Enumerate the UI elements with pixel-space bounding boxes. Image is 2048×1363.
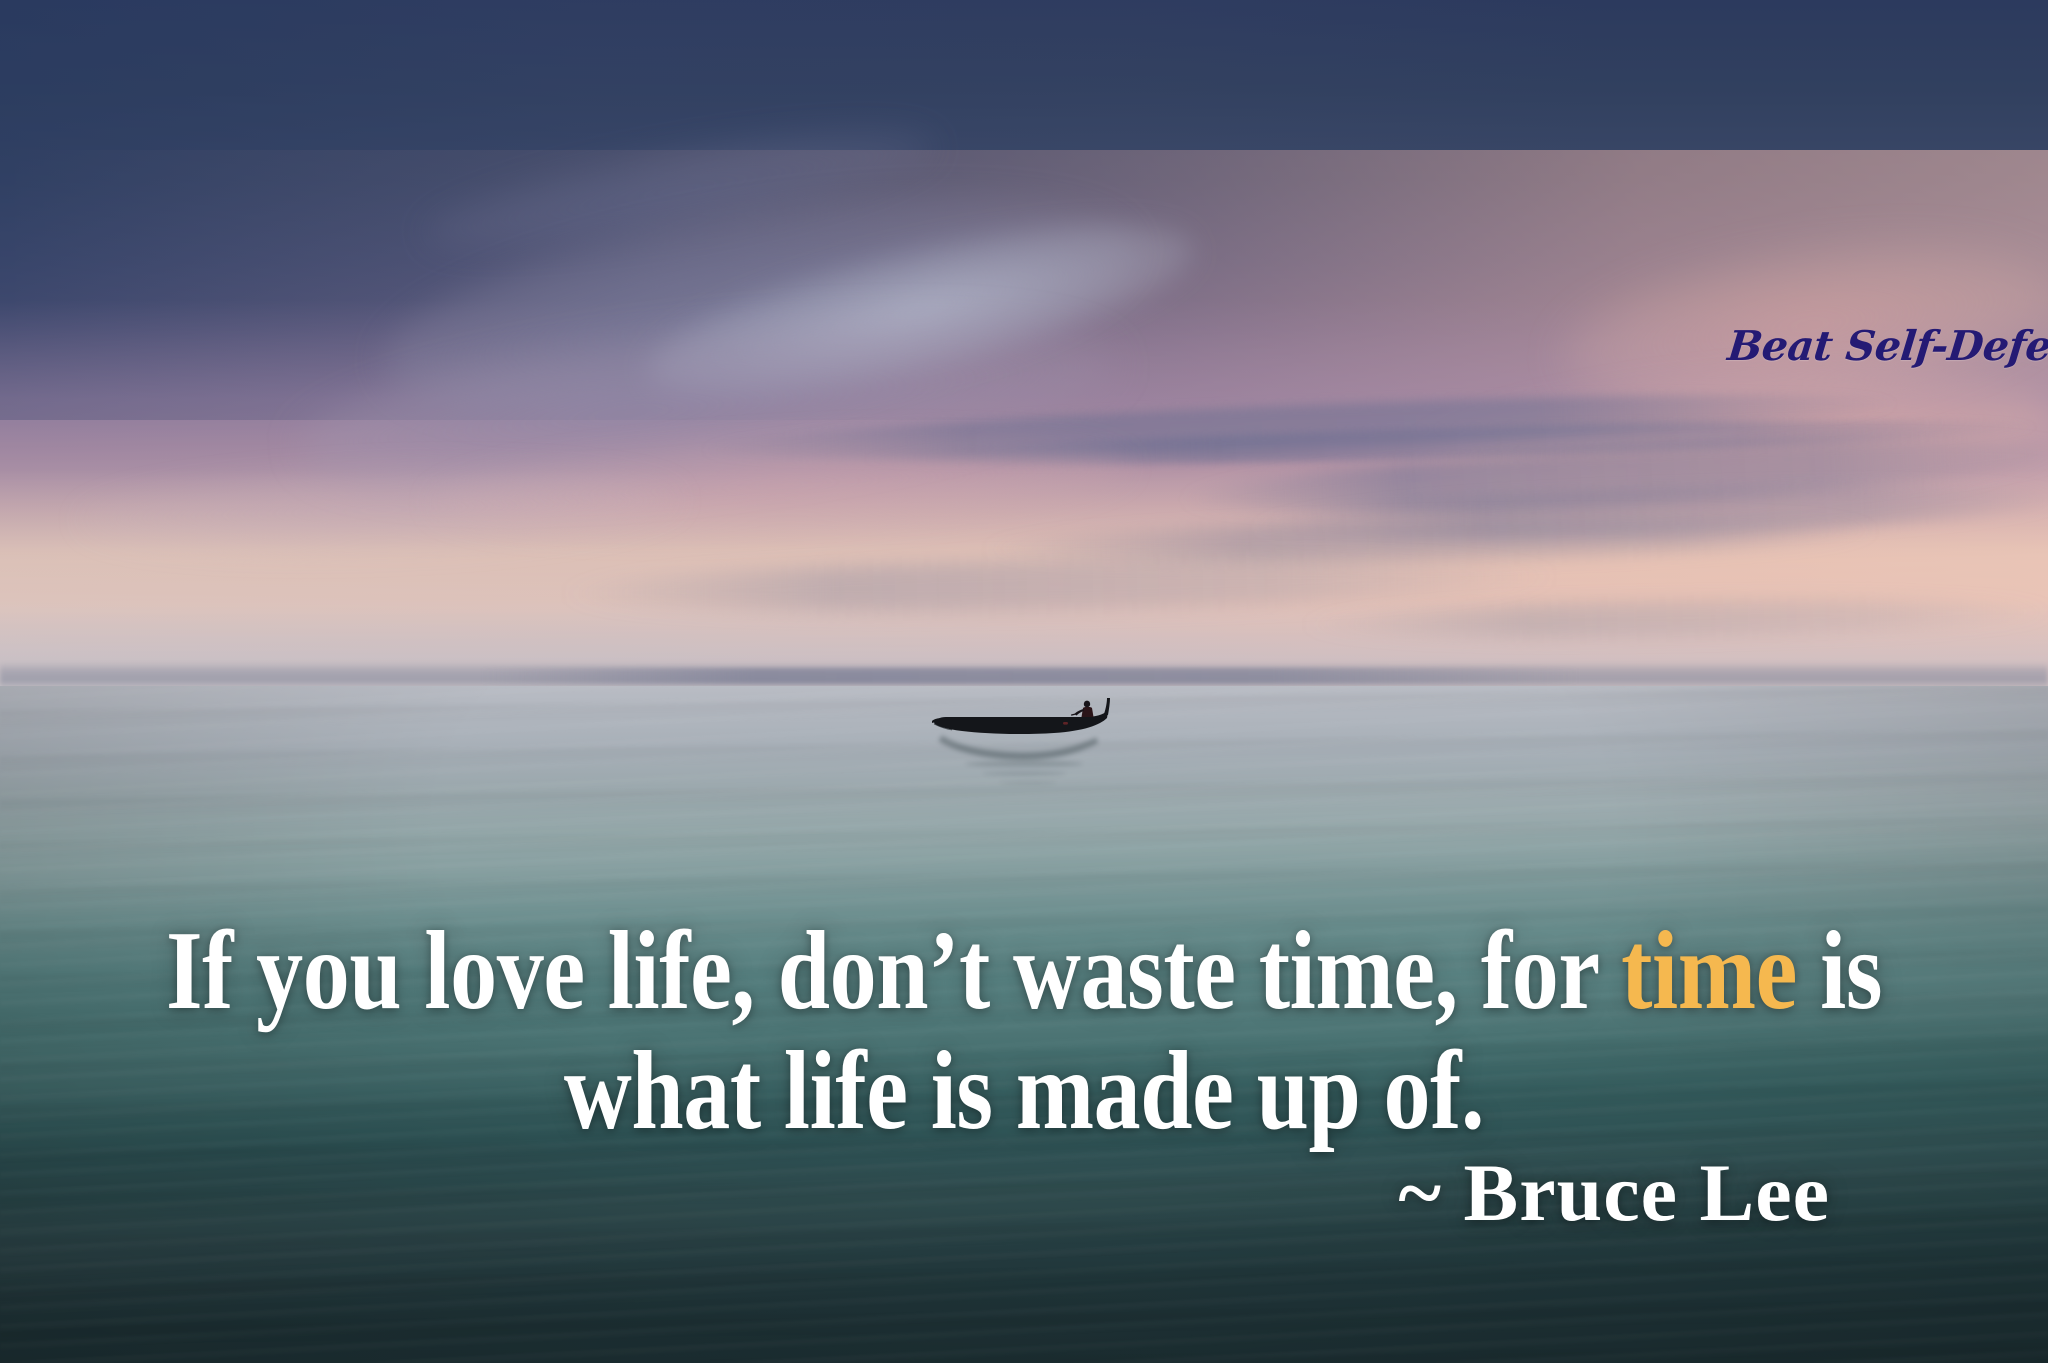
- fisherman-silhouette: [1071, 701, 1094, 717]
- fishing-boat: [924, 690, 1124, 750]
- quote-poster: If you love life, don’t waste time, for …: [0, 0, 2048, 1363]
- site-watermark: Beat Self-Defeat: [1725, 322, 2036, 370]
- distant-shoreline-detail: [480, 668, 1580, 684]
- boat-stern-post: [1104, 698, 1110, 715]
